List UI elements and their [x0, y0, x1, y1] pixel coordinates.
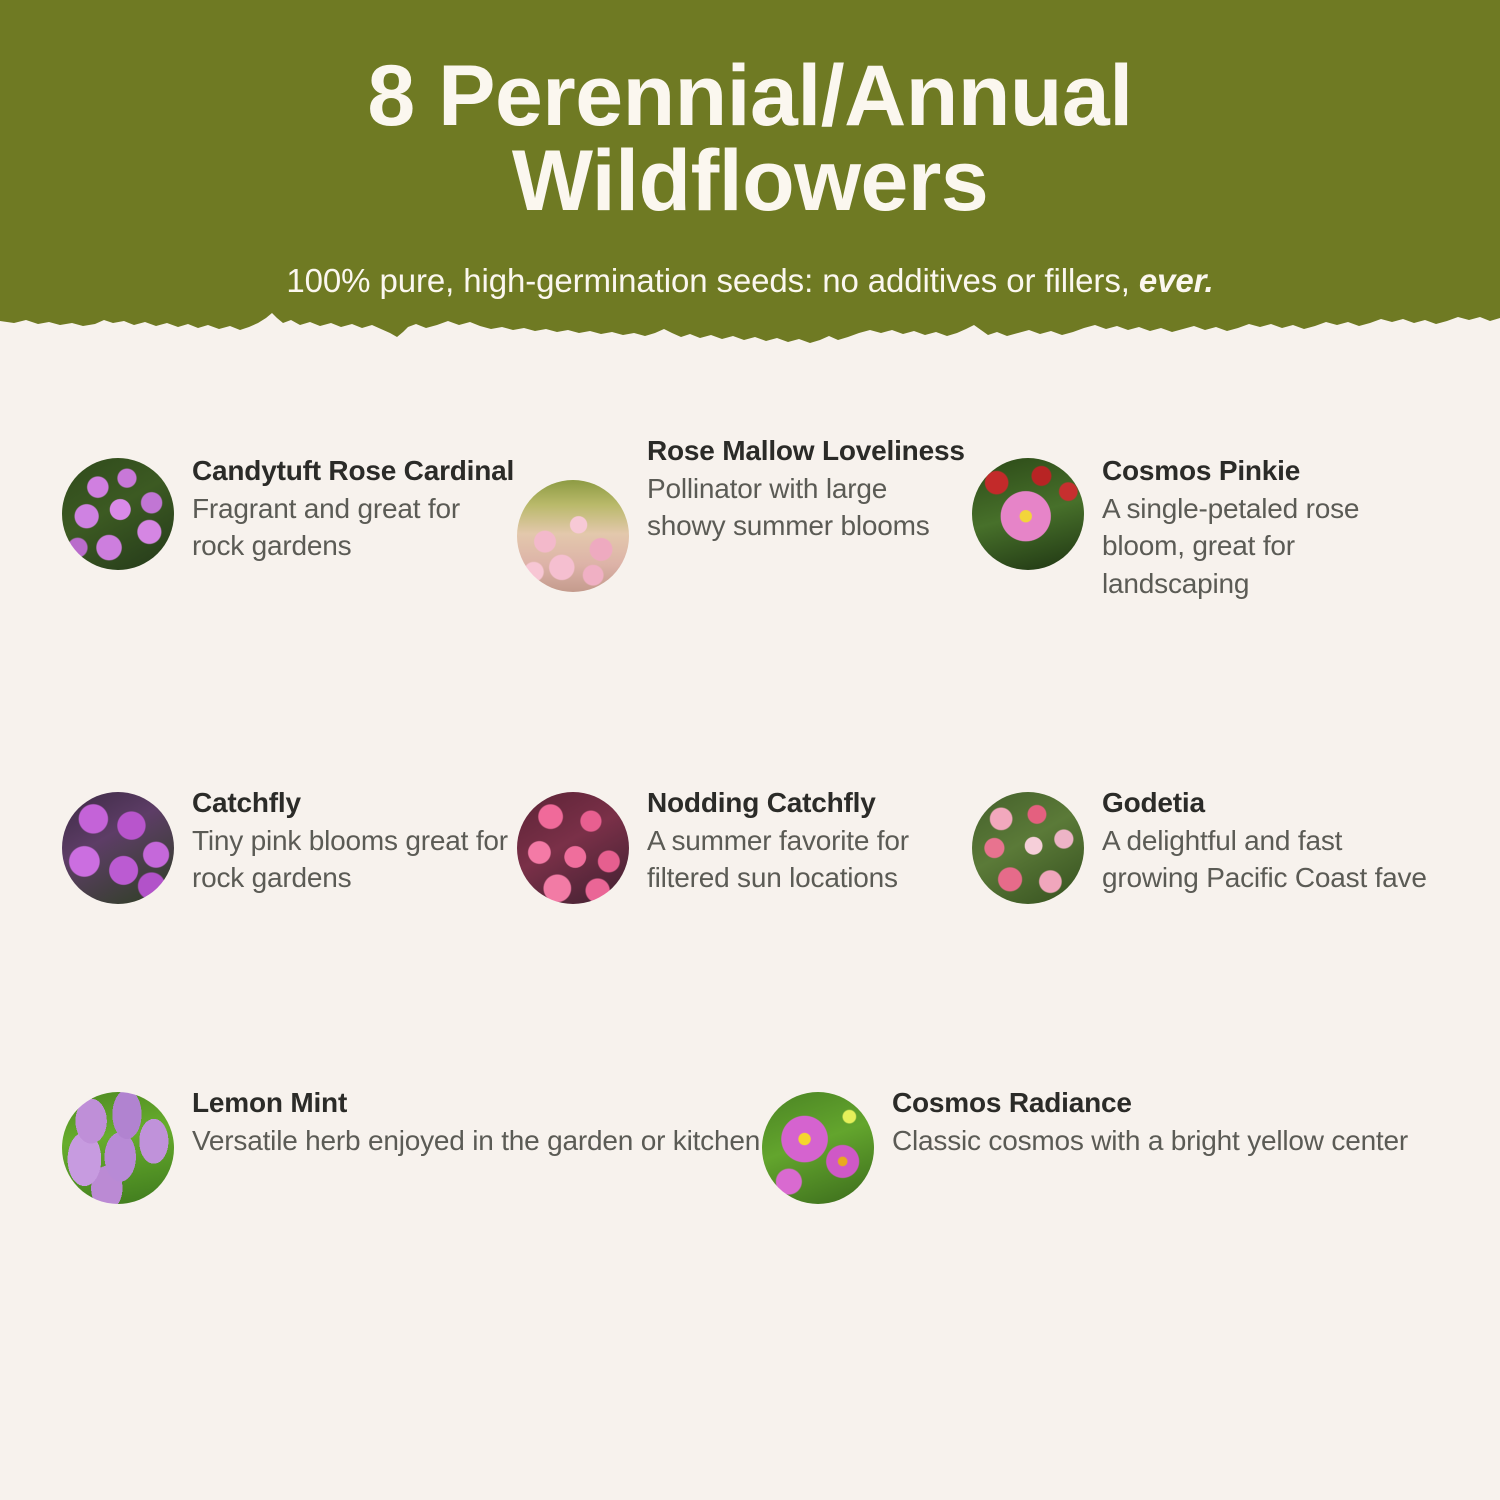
flower-item-text: Catchfly Tiny pink blooms great for rock…: [192, 782, 517, 897]
cosmos-pinkie-photo-icon: [972, 458, 1084, 570]
flower-item-catchfly[interactable]: Catchfly Tiny pink blooms great for rock…: [62, 792, 517, 904]
flower-name: Cosmos Radiance: [892, 1084, 1408, 1121]
flower-name: Cosmos Pinkie: [1102, 452, 1427, 489]
flower-item-candytuft-rose-cardinal[interactable]: Candytuft Rose Cardinal Fragrant and gre…: [62, 458, 517, 602]
flower-item-text: Rose Mallow Loveliness Pollinator with l…: [647, 430, 972, 545]
rose-mallow-loveliness-photo-icon: [517, 480, 629, 592]
flower-item-text: Lemon Mint Versatile herb enjoyed in the…: [192, 1082, 760, 1159]
flower-row-3: Lemon Mint Versatile herb enjoyed in the…: [0, 904, 1500, 1204]
flower-description: Tiny pink blooms great for rock gardens: [192, 822, 517, 896]
flower-name: Catchfly: [192, 784, 517, 821]
flower-description: Classic cosmos with a bright yellow cent…: [892, 1122, 1408, 1159]
flower-name: Nodding Catchfly: [647, 784, 972, 821]
flower-item-text: Cosmos Pinkie A single-petaled rose bloo…: [1102, 450, 1427, 602]
flower-name: Lemon Mint: [192, 1084, 760, 1121]
page-title: 8 Perennial/Annual Wildflowers: [220, 54, 1280, 224]
flower-item-lemon-mint[interactable]: Lemon Mint Versatile herb enjoyed in the…: [62, 1092, 762, 1204]
flower-item-text: Candytuft Rose Cardinal Fragrant and gre…: [192, 450, 517, 565]
cosmos-radiance-photo-icon: [762, 1092, 874, 1204]
godetia-photo-icon: [972, 792, 1084, 904]
flower-item-godetia[interactable]: Godetia A delightful and fast growing Pa…: [972, 792, 1427, 904]
flower-description: A delightful and fast growing Pacific Co…: [1102, 822, 1427, 896]
flower-description: Pollinator with large showy summer bloom…: [647, 470, 972, 544]
flower-description: A summer favorite for filtered sun locat…: [647, 822, 972, 896]
flower-name: Candytuft Rose Cardinal: [192, 452, 517, 489]
flower-name: Godetia: [1102, 784, 1427, 821]
flower-description: A single-petaled rose bloom, great for l…: [1102, 490, 1427, 602]
flower-description: Versatile herb enjoyed in the garden or …: [192, 1122, 760, 1159]
candytuft-rose-cardinal-photo-icon: [62, 458, 174, 570]
flower-name: Rose Mallow Loveliness: [647, 432, 972, 469]
lemon-mint-photo-icon: [62, 1092, 174, 1204]
flower-row-1: Candytuft Rose Cardinal Fragrant and gre…: [0, 348, 1500, 602]
flower-item-rose-mallow-loveliness[interactable]: Rose Mallow Loveliness Pollinator with l…: [517, 458, 972, 602]
nodding-catchfly-photo-icon: [517, 792, 629, 904]
flower-item-text: Nodding Catchfly A summer favorite for f…: [647, 782, 972, 897]
flower-item-nodding-catchfly[interactable]: Nodding Catchfly A summer favorite for f…: [517, 792, 972, 904]
flower-item-text: Cosmos Radiance Classic cosmos with a br…: [892, 1082, 1408, 1159]
flower-item-text: Godetia A delightful and fast growing Pa…: [1102, 782, 1427, 897]
header-content: 8 Perennial/Annual Wildflowers 100% pure…: [0, 0, 1500, 300]
catchfly-photo-icon: [62, 792, 174, 904]
flower-item-cosmos-radiance[interactable]: Cosmos Radiance Classic cosmos with a br…: [762, 1092, 1462, 1204]
flower-description: Fragrant and great for rock gardens: [192, 490, 517, 564]
flower-list: Candytuft Rose Cardinal Fragrant and gre…: [0, 348, 1500, 1204]
flower-item-cosmos-pinkie[interactable]: Cosmos Pinkie A single-petaled rose bloo…: [972, 458, 1427, 602]
flower-row-2: Catchfly Tiny pink blooms great for rock…: [0, 602, 1500, 904]
header-banner: 8 Perennial/Annual Wildflowers 100% pure…: [0, 0, 1500, 348]
torn-paper-edge-icon: [0, 289, 1500, 348]
